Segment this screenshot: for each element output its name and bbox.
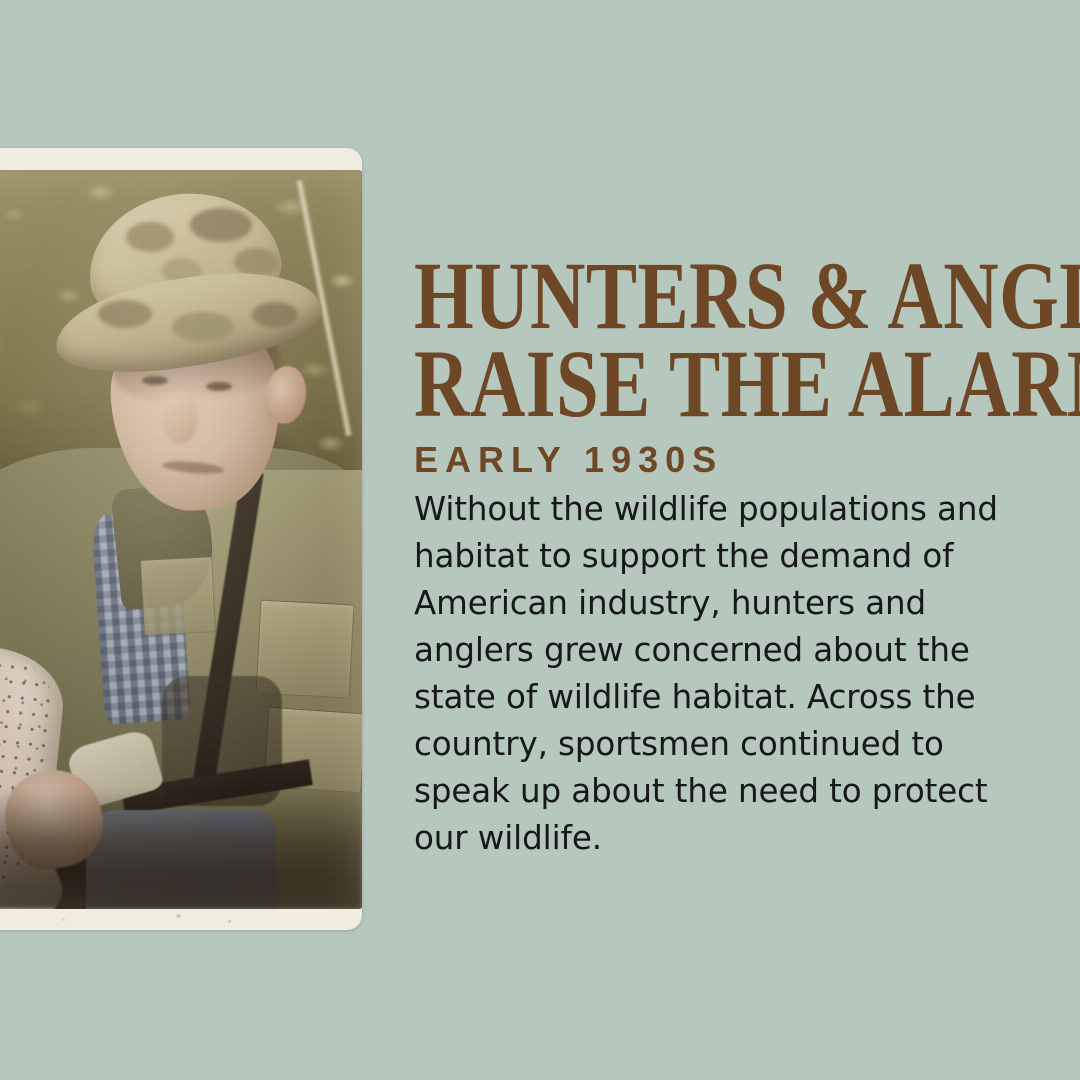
date-eyebrow: EARLY 1930S	[414, 440, 1024, 480]
body-paragraph: Without the wildlife populations and hab…	[414, 486, 1014, 862]
angler-nose	[162, 392, 198, 444]
strap-shadow-torso	[162, 676, 282, 806]
text-column: HUNTERS & ANGLERS RAISE THE ALARM EARLY …	[414, 252, 1024, 862]
angler-eye-left	[142, 376, 168, 385]
headline-line-1: HUNTERS & ANGLERS	[414, 252, 902, 340]
page-title: HUNTERS & ANGLERS RAISE THE ALARM	[414, 252, 902, 428]
photo-scene	[0, 170, 362, 909]
camo-patch-brim-2	[172, 312, 234, 342]
print-border-speck-3	[62, 918, 65, 921]
print-border-speck-2	[228, 920, 231, 923]
camo-patch-4	[234, 248, 278, 276]
jacket-pocket-chest	[140, 556, 216, 636]
angler-eye-right	[206, 382, 232, 391]
poster-canvas: HUNTERS & ANGLERS RAISE THE ALARM EARLY …	[0, 0, 1080, 1080]
print-border-speck-1	[176, 914, 181, 918]
photograph	[0, 170, 362, 909]
vintage-photo-print	[0, 148, 362, 930]
headline-line-2: RAISE THE ALARM	[414, 340, 902, 428]
camo-patch-brim-3	[252, 302, 298, 328]
ground-foreground	[0, 789, 362, 909]
camo-patch-1	[126, 222, 174, 252]
camo-patch-2	[190, 208, 252, 242]
camo-patch-brim-1	[98, 300, 152, 328]
